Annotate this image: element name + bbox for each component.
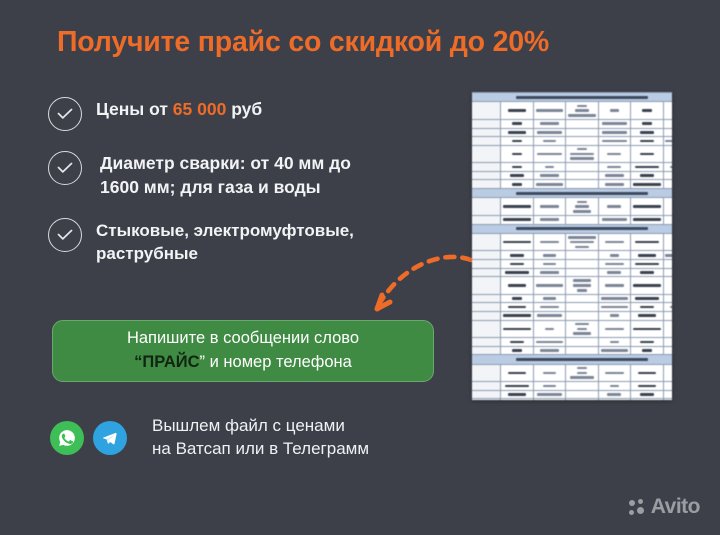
- table-row: [472, 303, 672, 312]
- whatsapp-icon[interactable]: [50, 421, 84, 455]
- price-request-cta[interactable]: Напишите в сообщении слово “ПРАЙС” и ном…: [52, 320, 434, 382]
- table-row: [472, 128, 672, 137]
- table-row: [472, 102, 672, 120]
- messenger-line-1: Вышлем файл с ценами: [152, 416, 345, 435]
- list-item-label: Цены от 65 000 руб: [96, 95, 262, 122]
- price-value: 65 000: [173, 99, 227, 119]
- table-section-header: [472, 93, 672, 102]
- avito-dots-logo: [629, 499, 646, 516]
- telegram-icon[interactable]: [93, 421, 127, 455]
- price-list-image: [472, 92, 672, 400]
- table-row: [472, 215, 672, 224]
- messenger-text: Вышлем файл с ценами на Ватсап или в Тел…: [152, 415, 369, 461]
- cta-line-2-suffix: ” и номер телефона: [200, 353, 352, 371]
- table-row: [472, 311, 672, 320]
- list-item: Цены от 65 000 руб: [48, 95, 448, 131]
- table-row: [472, 364, 672, 382]
- avito-wordmark: Avito: [651, 495, 700, 519]
- table-section-header: [472, 224, 672, 233]
- table-row: [472, 180, 672, 189]
- list-item-line-2: раструбные: [96, 244, 198, 263]
- table-row: [472, 137, 672, 146]
- table-row: [472, 145, 672, 163]
- price-table: [472, 92, 672, 400]
- table-row: [472, 198, 672, 216]
- table-row: [472, 171, 672, 180]
- table-row: [472, 382, 672, 391]
- messenger-contact-row: Вышлем файл с ценами на Ватсап или в Тел…: [50, 415, 369, 461]
- check-circle-icon: [48, 97, 82, 131]
- list-item-line-1: Диаметр сварки: от 40 мм до: [100, 153, 351, 173]
- check-circle-icon: [48, 218, 82, 252]
- table-row: [472, 346, 672, 355]
- table-row: [472, 260, 672, 269]
- table-section-header: [472, 355, 672, 364]
- table-row: [472, 163, 672, 172]
- table-row: [472, 119, 672, 128]
- list-item: Диаметр сварки: от 40 мм до 1600 мм; для…: [48, 149, 448, 200]
- list-item-line-2: 1600 мм; для газа и воды: [100, 177, 321, 197]
- messenger-line-2: на Ватсап или в Телеграмм: [152, 439, 369, 458]
- list-item-line-1: Стыковые, электромуфтовые,: [96, 221, 354, 240]
- table-row: [472, 277, 672, 295]
- price-suffix: руб: [226, 99, 262, 119]
- cta-line-1: Напишите в сообщении слово: [127, 327, 359, 351]
- list-item: Стыковые, электромуфтовые, раструбные: [48, 216, 448, 266]
- list-item-label: Диаметр сварки: от 40 мм до 1600 мм; для…: [96, 149, 351, 200]
- messenger-icons: [50, 421, 136, 455]
- list-item-label: Стыковые, электромуфтовые, раструбные: [96, 216, 354, 266]
- table-row: [472, 390, 672, 399]
- page-title: Получите прайс со скидкой до 20%: [57, 26, 677, 59]
- table-row: [472, 294, 672, 303]
- table-row: [472, 399, 672, 400]
- table-row: [472, 233, 672, 251]
- table-row: [472, 251, 672, 260]
- feature-list: Цены от 65 000 руб Диаметр сварки: от 40…: [48, 95, 448, 284]
- table-row: [472, 268, 672, 277]
- cta-keyword: ПРАЙС: [142, 353, 199, 371]
- cta-line-2: “ПРАЙС” и номер телефона: [134, 351, 352, 375]
- table-row: [472, 338, 672, 347]
- table-row: [472, 320, 672, 338]
- price-prefix: Цены от: [96, 99, 173, 119]
- promo-banner: Получите прайс со скидкой до 20% Цены от…: [0, 0, 720, 535]
- check-circle-icon: [48, 151, 82, 185]
- avito-watermark: Avito: [629, 495, 700, 519]
- table-section-header: [472, 189, 672, 198]
